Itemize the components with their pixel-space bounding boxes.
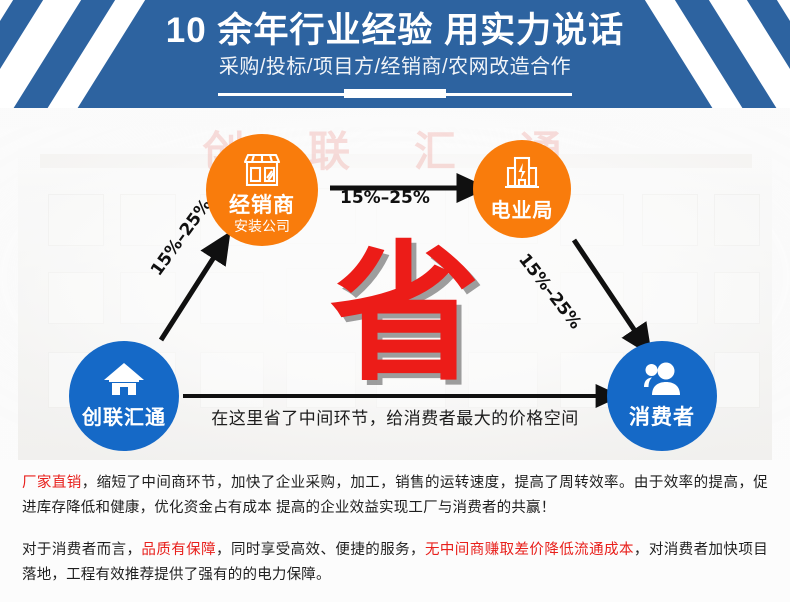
storefront-icon (206, 152, 318, 188)
node-manufacturer[interactable]: 创联汇通 (69, 341, 179, 451)
footer-paragraph-1: 厂家直销，缩短了中间商环节，加快了企业采购，加工，销售的运转速度，提高了周转效率… (22, 471, 768, 521)
node-consumer[interactable]: 消费者 (607, 341, 717, 451)
banner-subtitle: 采购/投标/项目方/经销商/农网改造合作 (0, 54, 790, 80)
node-power-bureau[interactable]: 电业局 (473, 140, 571, 238)
node-dealer-label: 经销商 (206, 189, 318, 219)
big-save-character: 省 (330, 240, 480, 390)
highlighted-text: 品质有保障 (141, 542, 216, 558)
arrow-label-dealer-to-power: 15%–25% (340, 188, 430, 208)
brand-watermark: 创 联 汇 通 (0, 118, 790, 179)
body-text: 对于消费者而言， (22, 542, 141, 558)
node-power-bureau-label: 电业局 (473, 194, 571, 223)
highlighted-text: 厂家直销 (22, 475, 82, 491)
node-dealer[interactable]: 经销商 安装公司 (206, 134, 318, 246)
flow-diagram: 创 联 汇 通 15%–25% 15%–25% 15%–25% 在这里省了中间环… (0, 108, 790, 460)
body-text: ，缩短了中间商环节，加快了企业采购，加工，销售的运转速度，提高了周转效率。由于效… (22, 475, 768, 516)
header-banner: 10 余年行业经验 用实力说话 采购/投标/项目方/经销商/农网改造合作 (0, 0, 790, 108)
node-consumer-label: 消费者 (607, 401, 717, 431)
promo-infographic-page: 10 余年行业经验 用实力说话 采购/投标/项目方/经销商/农网改造合作 (0, 0, 790, 602)
node-dealer-sublabel: 安装公司 (206, 216, 318, 236)
footer-description: 厂家直销，缩短了中间商环节，加快了企业采购，加工，销售的运转速度，提高了周转效率… (0, 460, 790, 602)
highlighted-text: 无中间商赚取差价降低流通成本 (425, 542, 634, 558)
body-text: ，同时享受高效、便捷的服务， (216, 542, 425, 558)
banner-title: 10 余年行业经验 用实力说话 (0, 10, 790, 52)
users-icon (607, 361, 717, 397)
power-building-icon (473, 156, 571, 190)
home-icon (69, 361, 179, 397)
node-manufacturer-label: 创联汇通 (69, 401, 179, 430)
footer-paragraph-2: 对于消费者而言，品质有保障，同时享受高效、便捷的服务，无中间商赚取差价降低流通成… (22, 538, 768, 588)
